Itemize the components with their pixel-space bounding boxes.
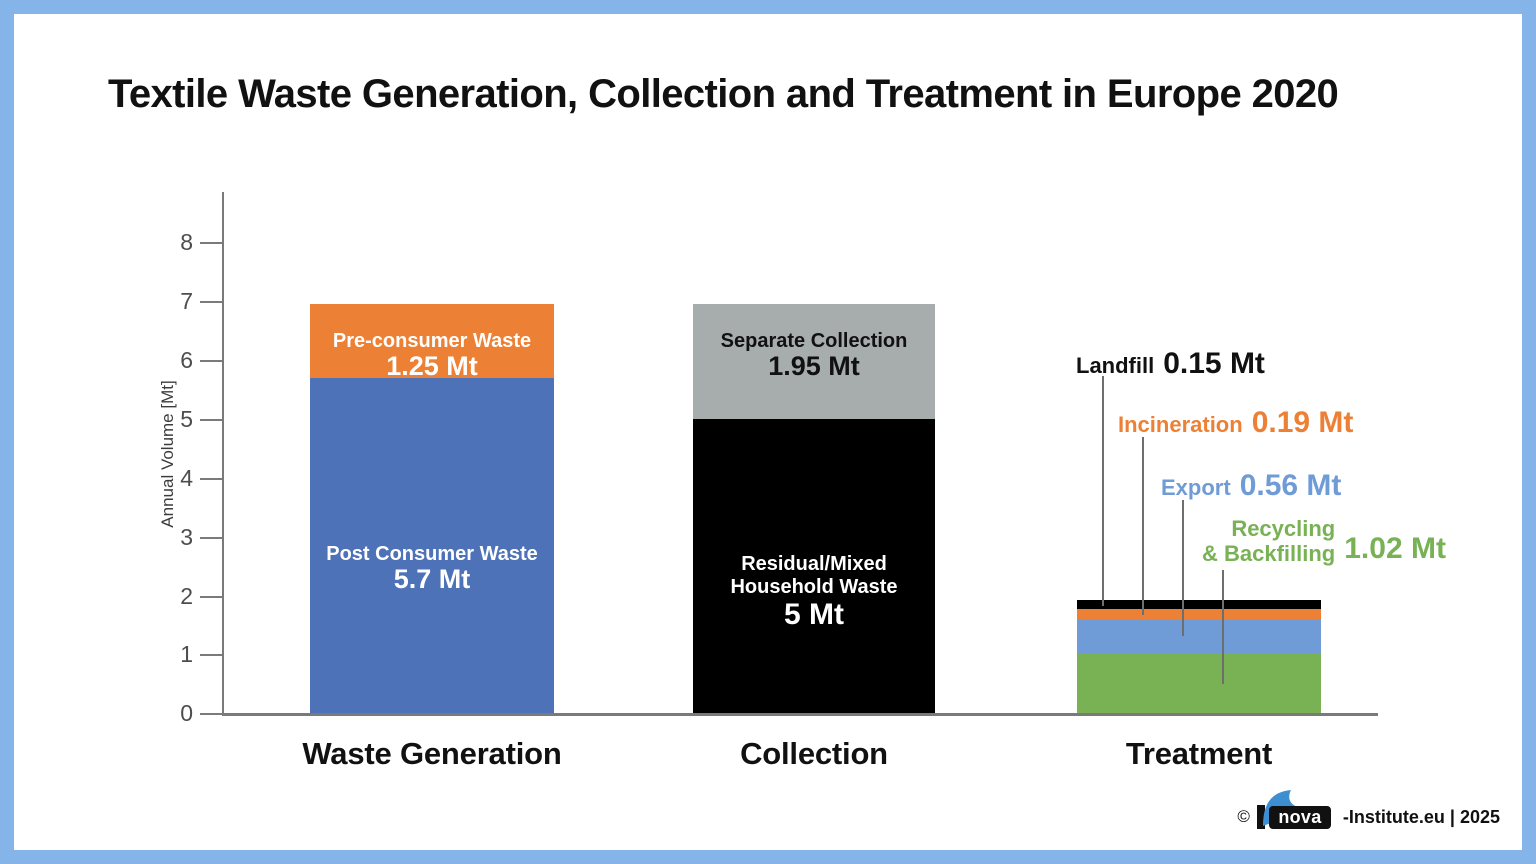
leader-line-landfill (1102, 376, 1104, 606)
y-tick-7: 7 (200, 301, 222, 303)
bar-segment-incineration[interactable] (1077, 609, 1321, 620)
segment-value-residual-household-waste: 5 Mt (784, 598, 844, 631)
footer-text: -Institute.eu | 2025 (1343, 807, 1500, 828)
segment-label-post-consumer-waste: Post Consumer Waste (326, 543, 538, 565)
y-tick-label-8: 8 (180, 229, 200, 256)
y-axis-line (222, 192, 224, 714)
callout-value-incineration: 0.19 Mt (1252, 406, 1354, 440)
callout-label-incineration: Incineration (1118, 412, 1243, 438)
callout-label-recycling: Recycling & Backfilling (1202, 517, 1335, 566)
bar-segment-export[interactable] (1077, 620, 1321, 653)
category-label-collection: Collection (648, 736, 980, 772)
callout-label-export: Export (1161, 475, 1231, 501)
leader-line-incineration (1142, 437, 1144, 615)
bar-segment-landfill[interactable] (1077, 600, 1321, 609)
segment-label-residual-line2: Household Waste (730, 576, 897, 598)
y-tick-2: 2 (200, 596, 222, 598)
x-axis-line (222, 713, 1378, 716)
segment-value-separate-collection: 1.95 Mt (768, 352, 860, 382)
callout-label-recycling-line1: Recycling (1202, 517, 1335, 542)
y-tick-0: 0 (200, 713, 222, 715)
y-axis-title: Annual Volume [Mt] (158, 294, 178, 614)
y-tick-label-3: 3 (180, 524, 200, 551)
segment-label-separate-collection: Separate Collection (721, 330, 908, 352)
y-tick-3: 3 (200, 537, 222, 539)
callout-value-landfill: 0.15 Mt (1163, 347, 1265, 381)
bar-segment-residual-household-waste[interactable]: Residual/Mixed Household Waste 5 Mt (693, 419, 935, 713)
bar-segment-pre-consumer-waste[interactable]: Pre-consumer Waste 1.25 Mt (310, 304, 554, 378)
category-label-waste-generation: Waste Generation (266, 736, 598, 772)
y-tick-1: 1 (200, 654, 222, 656)
y-tick-label-1: 1 (180, 641, 200, 668)
segment-value-pre-consumer-waste: 1.25 Mt (386, 352, 478, 378)
segment-label-residual-line1: Residual/Mixed (741, 553, 887, 575)
callout-landfill: Landfill 0.15 Mt (1076, 347, 1265, 381)
bar-segment-post-consumer-waste[interactable]: Post Consumer Waste 5.7 Mt (310, 378, 554, 713)
y-tick-6: 6 (200, 360, 222, 362)
callout-export: Export 0.56 Mt (1161, 469, 1341, 503)
callout-incineration: Incineration 0.19 Mt (1118, 406, 1353, 440)
copyright-icon: © (1237, 807, 1250, 827)
chart-canvas: Textile Waste Generation, Collection and… (14, 14, 1522, 850)
callout-label-landfill: Landfill (1076, 353, 1154, 379)
category-label-treatment: Treatment (1033, 736, 1365, 772)
logo-wordmark: nova (1269, 806, 1331, 829)
y-tick-label-7: 7 (180, 288, 200, 315)
callout-value-recycling: 1.02 Mt (1344, 532, 1446, 566)
y-tick-label-0: 0 (180, 700, 200, 727)
y-tick-4: 4 (200, 478, 222, 480)
y-tick-label-4: 4 (180, 465, 200, 492)
nova-institute-logo: nova (1257, 800, 1341, 834)
footer-credit: © nova -Institute.eu | 2025 (1237, 800, 1500, 834)
y-tick-label-6: 6 (180, 347, 200, 374)
leader-line-export (1182, 500, 1184, 636)
leader-line-recycling (1222, 570, 1224, 684)
y-tick-5: 5 (200, 419, 222, 421)
y-tick-8: 8 (200, 242, 222, 244)
chart-page: Textile Waste Generation, Collection and… (0, 0, 1536, 864)
bar-segment-separate-collection[interactable]: Separate Collection 1.95 Mt (693, 304, 935, 419)
segment-value-post-consumer-waste: 5.7 Mt (394, 565, 471, 595)
segment-label-pre-consumer-waste: Pre-consumer Waste (333, 330, 531, 352)
callout-label-recycling-line2: & Backfilling (1202, 542, 1335, 567)
plot-area: Annual Volume [Mt] 8 7 6 5 4 3 2 (14, 14, 1522, 850)
bar-segment-recycling-backfilling[interactable] (1077, 653, 1321, 713)
callout-recycling-backfilling: Recycling & Backfilling 1.02 Mt (1202, 517, 1446, 566)
y-tick-label-2: 2 (180, 583, 200, 610)
y-tick-label-5: 5 (180, 406, 200, 433)
callout-value-export: 0.56 Mt (1240, 469, 1342, 503)
